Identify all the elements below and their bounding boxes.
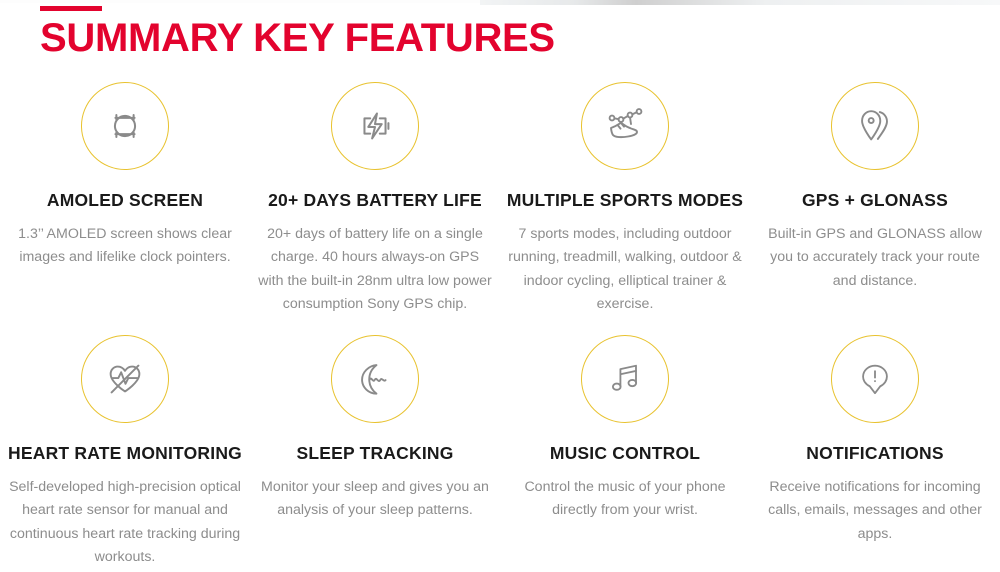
page-title: SUMMARY KEY FEATURES xyxy=(40,17,555,59)
feature-card-gps-glonass: GPS + GLONASS Built-in GPS and GLONASS a… xyxy=(750,82,1000,317)
feature-title: MULTIPLE SPORTS MODES xyxy=(507,190,743,211)
music-note-icon xyxy=(581,335,669,423)
feature-title: NOTIFICATIONS xyxy=(806,443,943,464)
feature-description: Self-developed high-precision optical he… xyxy=(8,476,242,570)
feature-description: 7 sports modes, including outdoor runnin… xyxy=(508,223,742,317)
top-edge-strip-right xyxy=(480,0,1000,5)
feature-description: 1.3’’ AMOLED screen shows clear images a… xyxy=(8,223,242,270)
feature-title: MUSIC CONTROL xyxy=(550,443,700,464)
battery-bolt-icon xyxy=(331,82,419,170)
running-shoe-chart-icon xyxy=(581,82,669,170)
moon-wave-icon xyxy=(331,335,419,423)
feature-description: Control the music of your phone directly… xyxy=(508,476,742,523)
feature-card-amoled-screen: AMOLED SCREEN 1.3’’ AMOLED screen shows … xyxy=(0,82,250,317)
map-pin-icon xyxy=(831,82,919,170)
feature-card-battery-life: 20+ DAYS BATTERY LIFE 20+ days of batter… xyxy=(250,82,500,317)
feature-description: 20+ days of battery life on a single cha… xyxy=(258,223,492,317)
feature-description: Monitor your sleep and gives you an anal… xyxy=(258,476,492,523)
feature-title: SLEEP TRACKING xyxy=(296,443,453,464)
feature-description: Receive notifications for incoming calls… xyxy=(758,476,992,546)
feature-description: Built-in GPS and GLONASS allow you to ac… xyxy=(758,223,992,293)
features-grid: AMOLED SCREEN 1.3’’ AMOLED screen shows … xyxy=(0,82,1000,569)
red-accent-bar xyxy=(40,6,102,11)
feature-card-heart-rate: HEART RATE MONITORING Self-developed hig… xyxy=(0,335,250,570)
heart-pulse-icon xyxy=(81,335,169,423)
feature-card-sleep-tracking: SLEEP TRACKING Monitor your sleep and gi… xyxy=(250,335,500,570)
feature-card-music-control: MUSIC CONTROL Control the music of your … xyxy=(500,335,750,570)
feature-title: AMOLED SCREEN xyxy=(47,190,203,211)
page-header: SUMMARY KEY FEATURES xyxy=(40,0,555,59)
feature-card-notifications: NOTIFICATIONS Receive notifications for … xyxy=(750,335,1000,570)
smartwatch-icon xyxy=(81,82,169,170)
feature-card-sports-modes: MULTIPLE SPORTS MODES 7 sports modes, in… xyxy=(500,82,750,317)
notification-bubble-icon xyxy=(831,335,919,423)
feature-title: HEART RATE MONITORING xyxy=(8,443,242,464)
feature-title: GPS + GLONASS xyxy=(802,190,948,211)
feature-title: 20+ DAYS BATTERY LIFE xyxy=(268,190,482,211)
